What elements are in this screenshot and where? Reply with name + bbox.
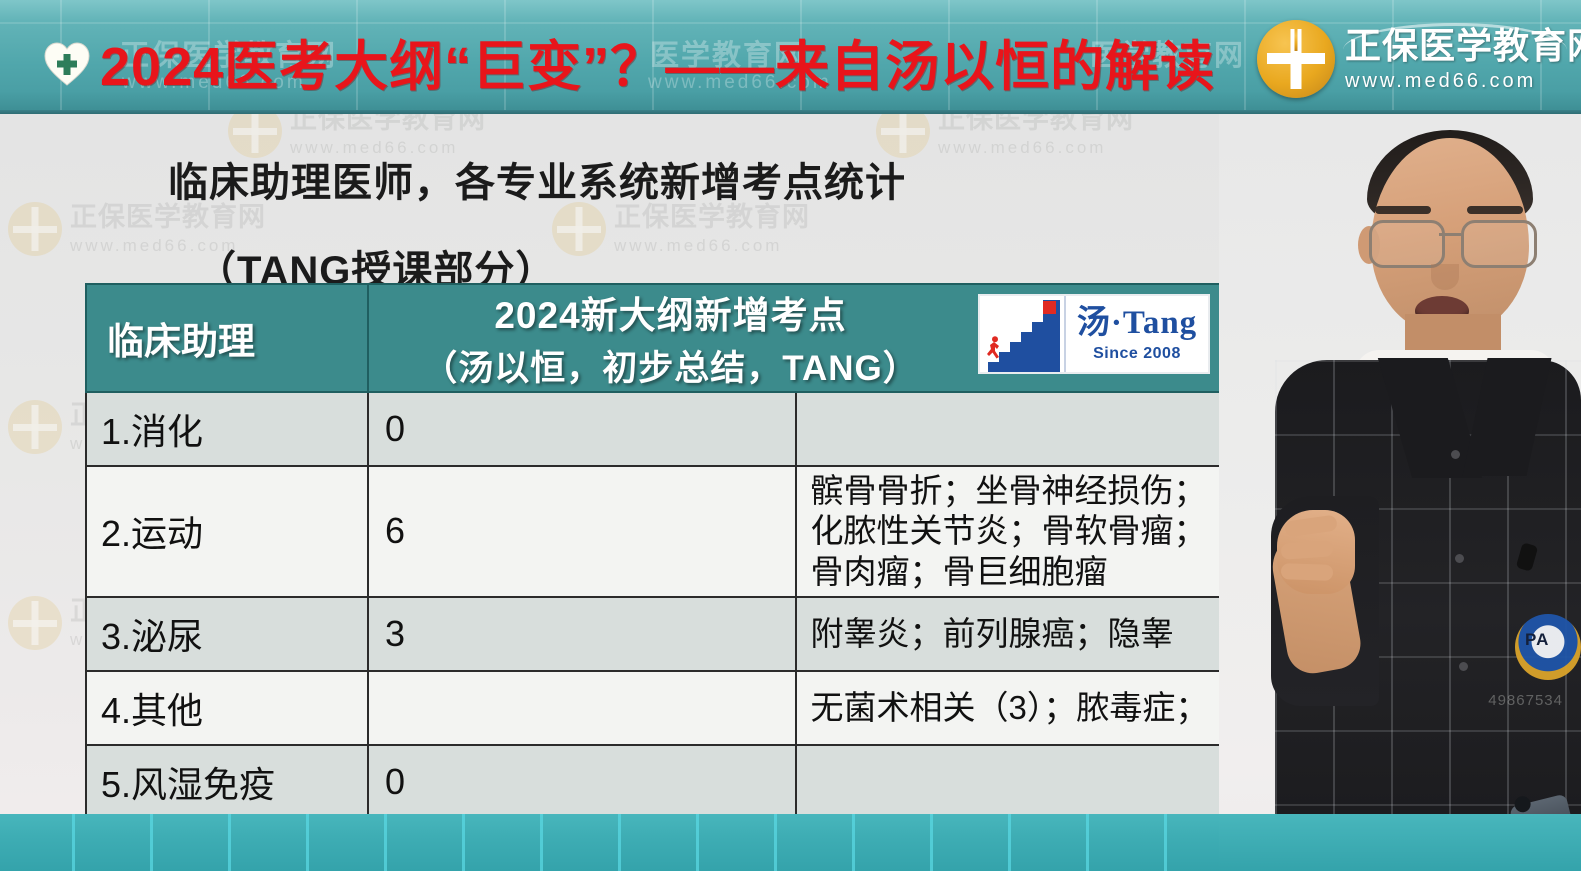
row-category: 3.泌尿 — [86, 597, 368, 671]
med66-brand-logo: 正保医学教育网 www.med66.com — [1257, 17, 1569, 101]
watermark-cn: 正保医学教育网 — [614, 204, 810, 231]
presenter-glasses — [1369, 220, 1543, 264]
presenter-finger — [1281, 563, 1334, 581]
row-count: 0 — [368, 745, 796, 814]
row-count: 6 — [368, 466, 796, 597]
runner-icon — [986, 336, 1004, 360]
tang-logo-name: 汤·Tang — [1077, 307, 1197, 340]
table-row: 3.泌尿 3 附睾炎；前列腺癌；隐睾 — [86, 597, 1223, 671]
presenter-eyebrow-left — [1375, 206, 1431, 214]
video-player-frame: 正保医学教育网 www.med66.com 医学教育网 www.med66.co… — [0, 0, 1581, 871]
table-body: 1.消化 0 2.运动 6 髌骨骨折；坐骨神经损伤；化脓性关节炎；骨软骨瘤；骨肉… — [86, 392, 1223, 814]
column-header-category: 临床助理 — [86, 284, 368, 392]
row-detail — [796, 745, 1224, 814]
watermark-cn: 正保医学教育网 — [70, 204, 266, 231]
row-detail: 附睾炎；前列腺癌；隐睾 — [796, 597, 1224, 671]
column-header-points-line1: 2024新大纲新增考点 — [494, 285, 846, 339]
watermark-url: www.med66.com — [938, 139, 1134, 156]
table-row: 5.风湿免疫 0 — [86, 745, 1223, 814]
presenter-video: PA — [1219, 114, 1581, 871]
row-category: 5.风湿免疫 — [86, 745, 368, 814]
column-header-points: 2024新大纲新增考点 （汤以恒，初步总结，TANG） — [368, 284, 1223, 392]
med66-circle-cross-icon — [1257, 20, 1335, 98]
row-count — [368, 671, 796, 745]
tang-logo-since: Since 2008 — [1093, 346, 1181, 362]
table-row: 4.其他 无菌术相关（3）；脓毒症； — [86, 671, 1223, 745]
row-detail: 无菌术相关（3）；脓毒症； — [796, 671, 1224, 745]
presenter-nose — [1431, 264, 1459, 290]
shirt-button — [1455, 554, 1464, 563]
row-count: 3 — [368, 597, 796, 671]
studio-backdrop-strip-right — [1219, 814, 1581, 871]
table-header-row: 临床助理 2024新大纲新增考点 （汤以恒，初步总结，TANG） — [86, 284, 1223, 392]
new-exam-points-table: 临床助理 2024新大纲新增考点 （汤以恒，初步总结，TANG） — [85, 283, 1224, 814]
row-category: 4.其他 — [86, 671, 368, 745]
brand-url: www.med66.com — [1345, 71, 1581, 91]
column-header-points-line2: （汤以恒，初步总结，TANG） — [422, 340, 919, 391]
watermark-cn: 正保医学教育网 — [938, 114, 1134, 133]
watermark-url: www.med66.com — [614, 237, 810, 254]
presenter-eyebrow-right — [1467, 206, 1523, 214]
heart-cross-icon — [44, 42, 90, 86]
row-detail — [796, 392, 1224, 466]
table-row: 2.运动 6 髌骨骨折；坐骨神经损伤；化脓性关节炎；骨软骨瘤；骨肉瘤；骨巨细胞瘤 — [86, 466, 1223, 597]
course-banner: 正保医学教育网 www.med66.com 医学教育网 www.med66.co… — [0, 0, 1581, 114]
page-title: 临床助理医师，各专业系统新增考点统计 — [168, 150, 906, 208]
stairs-runner-flag-icon — [980, 296, 1064, 372]
row-detail: 髌骨骨折；坐骨神经损伤；化脓性关节炎；骨软骨瘤；骨肉瘤；骨巨细胞瘤 — [796, 466, 1224, 597]
presenter-badge-label: PA — [1525, 630, 1549, 650]
serial-number-watermark: 49867534 — [1488, 692, 1563, 709]
tang-brand-logo: 汤·Tang Since 2008 — [978, 294, 1210, 374]
row-category: 1.消化 — [86, 392, 368, 466]
row-category: 2.运动 — [86, 466, 368, 597]
row-count: 0 — [368, 392, 796, 466]
watermark-cn: 正保医学教育网 — [290, 114, 486, 133]
table-head: 临床助理 2024新大纲新增考点 （汤以恒，初步总结，TANG） — [86, 284, 1223, 392]
shirt-button — [1459, 662, 1468, 671]
shirt-button — [1451, 450, 1460, 459]
table-row: 1.消化 0 — [86, 392, 1223, 466]
banner-title: 2024医考大纲“巨变”？——来自汤以恒的解读 — [100, 22, 1215, 101]
